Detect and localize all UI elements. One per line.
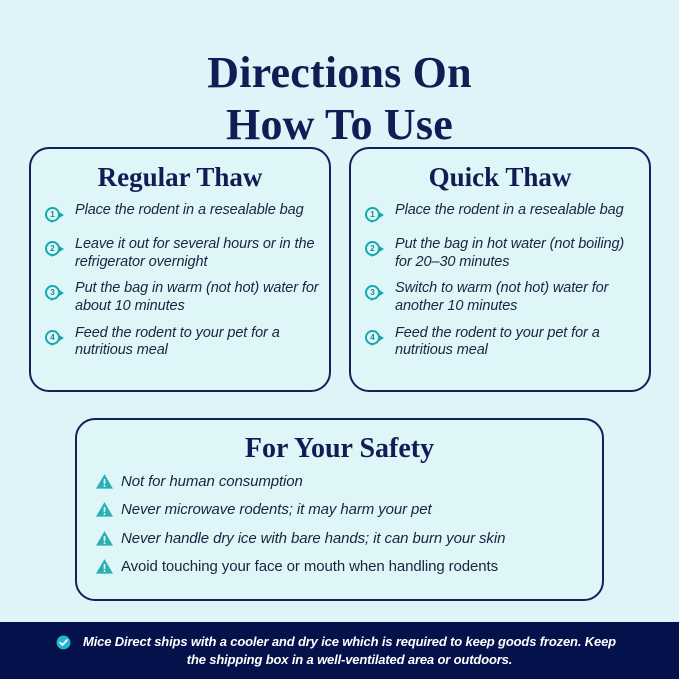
safety-text: Never microwave rodents; it may harm you… [121, 501, 432, 518]
warning-triangle-icon [95, 558, 114, 575]
safety-item-list: Not for human consumption Never microwav… [77, 473, 602, 575]
step-number: 2 [365, 241, 380, 256]
list-item: 3 Put the bag in warm (not hot) water fo… [45, 280, 319, 315]
list-item: Never microwave rodents; it may harm you… [95, 501, 590, 518]
card-safety-title: For Your Safety [77, 435, 602, 463]
shipping-notice-banner: Mice Direct ships with a cooler and dry … [0, 622, 679, 679]
warning-triangle-icon [95, 501, 114, 518]
list-item: 2 Leave it out for several hours or in t… [45, 236, 319, 271]
card-quick-thaw: Quick Thaw 1 Place the rodent in a resea… [349, 147, 651, 392]
safety-text: Never handle dry ice with bare hands; it… [121, 530, 505, 547]
step-text: Leave it out for several hours or in the… [75, 236, 319, 271]
safety-text: Not for human consumption [121, 473, 303, 490]
step-number-marker-icon: 1 [365, 206, 392, 227]
step-text: Place the rodent in a resealable bag [395, 202, 624, 220]
card-for-your-safety: For Your Safety Not for human consumptio… [75, 418, 604, 601]
step-text: Feed the rodent to your pet for a nutrit… [395, 325, 639, 360]
list-item: 2 Put the bag in hot water (not boiling)… [365, 236, 639, 271]
list-item: 1 Place the rodent in a resealable bag [45, 202, 319, 227]
step-number: 1 [365, 207, 380, 222]
warning-triangle-icon [95, 473, 114, 490]
list-item: 1 Place the rodent in a resealable bag [365, 202, 639, 227]
step-number-marker-icon: 1 [45, 206, 72, 227]
step-number: 1 [45, 207, 60, 222]
step-number-marker-icon: 3 [365, 284, 392, 305]
card-quick-thaw-title: Quick Thaw [351, 164, 649, 191]
step-number-marker-icon: 2 [365, 240, 392, 261]
step-number: 4 [45, 330, 60, 345]
step-text: Switch to warm (not hot) water for anoth… [395, 280, 639, 315]
list-item: Avoid touching your face or mouth when h… [95, 558, 590, 575]
quick-thaw-step-list: 1 Place the rodent in a resealable bag 2… [351, 202, 649, 360]
list-item: 4 Feed the rodent to your pet for a nutr… [45, 325, 319, 360]
list-item: Never handle dry ice with bare hands; it… [95, 530, 590, 547]
step-number-marker-icon: 4 [45, 329, 72, 350]
check-circle-icon [56, 635, 71, 650]
card-regular-thaw-title: Regular Thaw [31, 164, 329, 191]
step-number-marker-icon: 4 [365, 329, 392, 350]
step-text: Feed the rodent to your pet for a nutrit… [75, 325, 319, 360]
regular-thaw-step-list: 1 Place the rodent in a resealable bag 2… [31, 202, 329, 360]
list-item: 4 Feed the rodent to your pet for a nutr… [365, 325, 639, 360]
step-text: Place the rodent in a resealable bag [75, 202, 304, 220]
page-title-line-1: Directions On [207, 48, 472, 97]
step-number: 2 [45, 241, 60, 256]
shipping-notice-inner: Mice Direct ships with a cooler and dry … [0, 633, 679, 668]
warning-triangle-icon [95, 530, 114, 547]
shipping-notice-text: Mice Direct ships with a cooler and dry … [76, 633, 623, 668]
step-number-marker-icon: 2 [45, 240, 72, 261]
step-number-marker-icon: 3 [45, 284, 72, 305]
safety-text: Avoid touching your face or mouth when h… [121, 558, 498, 575]
step-text: Put the bag in hot water (not boiling) f… [395, 236, 639, 271]
page-title-line-2: How To Use [0, 99, 679, 151]
step-text: Put the bag in warm (not hot) water for … [75, 280, 319, 315]
list-item: 3 Switch to warm (not hot) water for ano… [365, 280, 639, 315]
infographic-page: Directions On How To Use Regular Thaw 1 … [0, 0, 679, 679]
step-number: 4 [365, 330, 380, 345]
page-title: Directions On How To Use [0, 47, 679, 151]
card-regular-thaw: Regular Thaw 1 Place the rodent in a res… [29, 147, 331, 392]
list-item: Not for human consumption [95, 473, 590, 490]
